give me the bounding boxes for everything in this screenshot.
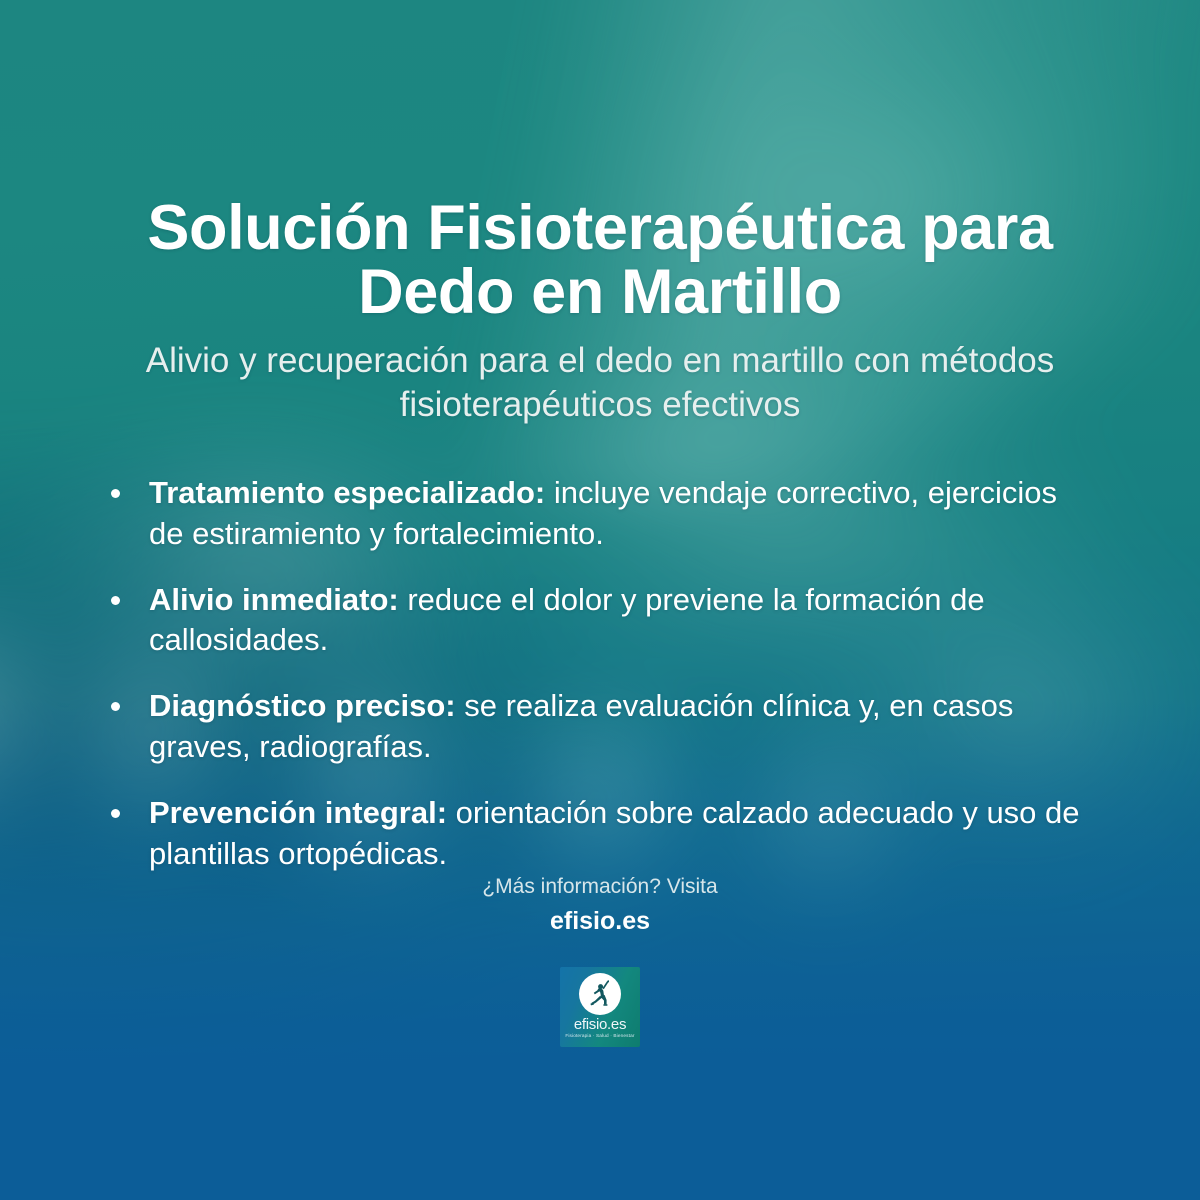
bullet-dot-icon [111, 809, 120, 818]
bullet-dot-icon [111, 489, 120, 498]
logo-tagline: Fisioterapia · Salud · Bienestar [565, 1034, 634, 1039]
list-item-lead: Alivio inmediato: [149, 582, 399, 617]
bullet-dot-icon [111, 702, 120, 711]
page-subtitle: Alivio y recuperación para el dedo en ma… [120, 339, 1080, 427]
list-item: Diagnóstico preciso: se realiza evaluaci… [100, 686, 1100, 768]
footer-website-link[interactable]: efisio.es [550, 907, 650, 936]
poster-footer: ¿Más información? Visita efisio.es [80, 875, 1120, 1047]
list-item: Tratamiento especializado: incluye venda… [100, 473, 1100, 555]
list-item-lead: Diagnóstico preciso: [149, 688, 456, 723]
list-item: Prevención integral: orientación sobre c… [100, 793, 1100, 875]
efisio-logo[interactable]: efisio.es Fisioterapia · Salud · Bienest… [560, 967, 640, 1047]
stretching-person-icon [579, 973, 621, 1015]
page-title: Solución Fisioterapéutica para Dedo en M… [90, 196, 1110, 325]
promo-poster: Solución Fisioterapéutica para Dedo en M… [0, 0, 1200, 1200]
list-item: Alivio inmediato: reduce el dolor y prev… [100, 580, 1100, 662]
benefits-list: Tratamiento especializado: incluye venda… [100, 473, 1100, 875]
logo-wordmark: efisio.es [574, 1017, 626, 1032]
bullet-dot-icon [111, 596, 120, 605]
list-item-lead: Prevención integral: [149, 795, 447, 830]
list-item-lead: Tratamiento especializado: [149, 475, 545, 510]
poster-content: Solución Fisioterapéutica para Dedo en M… [0, 0, 1200, 1200]
footer-cta-text: ¿Más información? Visita [482, 875, 717, 899]
